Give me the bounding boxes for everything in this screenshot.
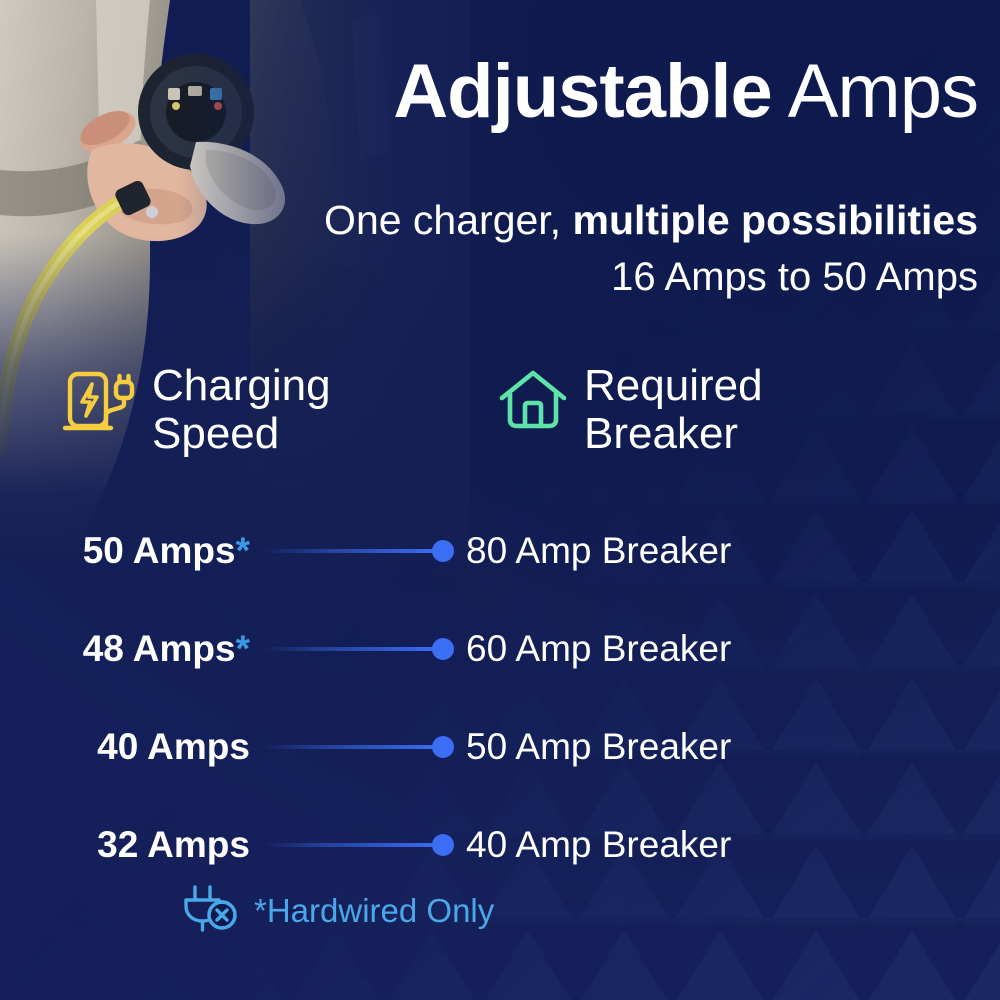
footnote-text: *Hardwired Only bbox=[254, 892, 494, 930]
required-breaker-value: 60 Amp Breaker bbox=[466, 628, 1000, 670]
table-row: 40 Amps 50 Amp Breaker bbox=[0, 698, 1000, 796]
subtitle-range: 16 Amps to 50 Amps bbox=[0, 256, 978, 299]
connector-dot bbox=[432, 736, 454, 758]
connector-dot bbox=[432, 834, 454, 856]
required-breaker-value: 50 Amp Breaker bbox=[466, 726, 1000, 768]
column-header-required-breaker: Required Breaker bbox=[498, 362, 763, 457]
column-header-label: Charging Speed bbox=[152, 362, 331, 457]
row-connector bbox=[264, 533, 454, 569]
title-light: Amps bbox=[772, 49, 978, 134]
speed-text: 48 Amps bbox=[83, 628, 236, 669]
title-bold: Adjustable bbox=[393, 49, 772, 134]
connector-line bbox=[264, 647, 438, 651]
connector-dot bbox=[432, 638, 454, 660]
connector-line bbox=[264, 843, 438, 847]
table-row: 48 Amps* 60 Amp Breaker bbox=[0, 600, 1000, 698]
column-header-charging-speed: Charging Speed bbox=[62, 362, 331, 457]
connector-line bbox=[264, 549, 438, 553]
speed-text: 50 Amps bbox=[83, 530, 236, 571]
no-plug-icon bbox=[182, 884, 240, 937]
row-connector bbox=[264, 729, 454, 765]
amps-breaker-table: 50 Amps* 80 Amp Breaker 48 Amps* 60 Amp … bbox=[0, 502, 1000, 894]
speed-text: 32 Amps bbox=[97, 824, 250, 865]
speed-text: 40 Amps bbox=[97, 726, 250, 767]
charging-speed-value: 40 Amps bbox=[0, 726, 250, 768]
connector-line bbox=[264, 745, 438, 749]
row-connector bbox=[264, 827, 454, 863]
subtitle: One charger, multiple possibilities bbox=[0, 198, 978, 242]
subtitle-light: One charger, bbox=[324, 197, 572, 243]
required-breaker-value: 80 Amp Breaker bbox=[466, 530, 1000, 572]
subtitle-bold: multiple possibilities bbox=[572, 197, 978, 243]
footnote: *Hardwired Only bbox=[182, 884, 494, 937]
column-header-label: Required Breaker bbox=[584, 362, 763, 457]
charging-speed-value: 32 Amps bbox=[0, 824, 250, 866]
row-connector bbox=[264, 631, 454, 667]
ev-charging-station-icon bbox=[62, 368, 136, 439]
required-breaker-value: 40 Amp Breaker bbox=[466, 824, 1000, 866]
house-icon bbox=[498, 368, 568, 437]
infographic-canvas: Adjustable Amps One charger, multiple po… bbox=[0, 0, 1000, 1000]
charging-speed-value: 48 Amps* bbox=[0, 628, 250, 670]
hardwired-asterisk: * bbox=[236, 530, 250, 571]
hardwired-asterisk: * bbox=[236, 628, 250, 669]
connector-dot bbox=[432, 540, 454, 562]
table-row: 50 Amps* 80 Amp Breaker bbox=[0, 502, 1000, 600]
charging-speed-value: 50 Amps* bbox=[0, 530, 250, 572]
table-row: 32 Amps 40 Amp Breaker bbox=[0, 796, 1000, 894]
page-title: Adjustable Amps bbox=[0, 52, 978, 131]
